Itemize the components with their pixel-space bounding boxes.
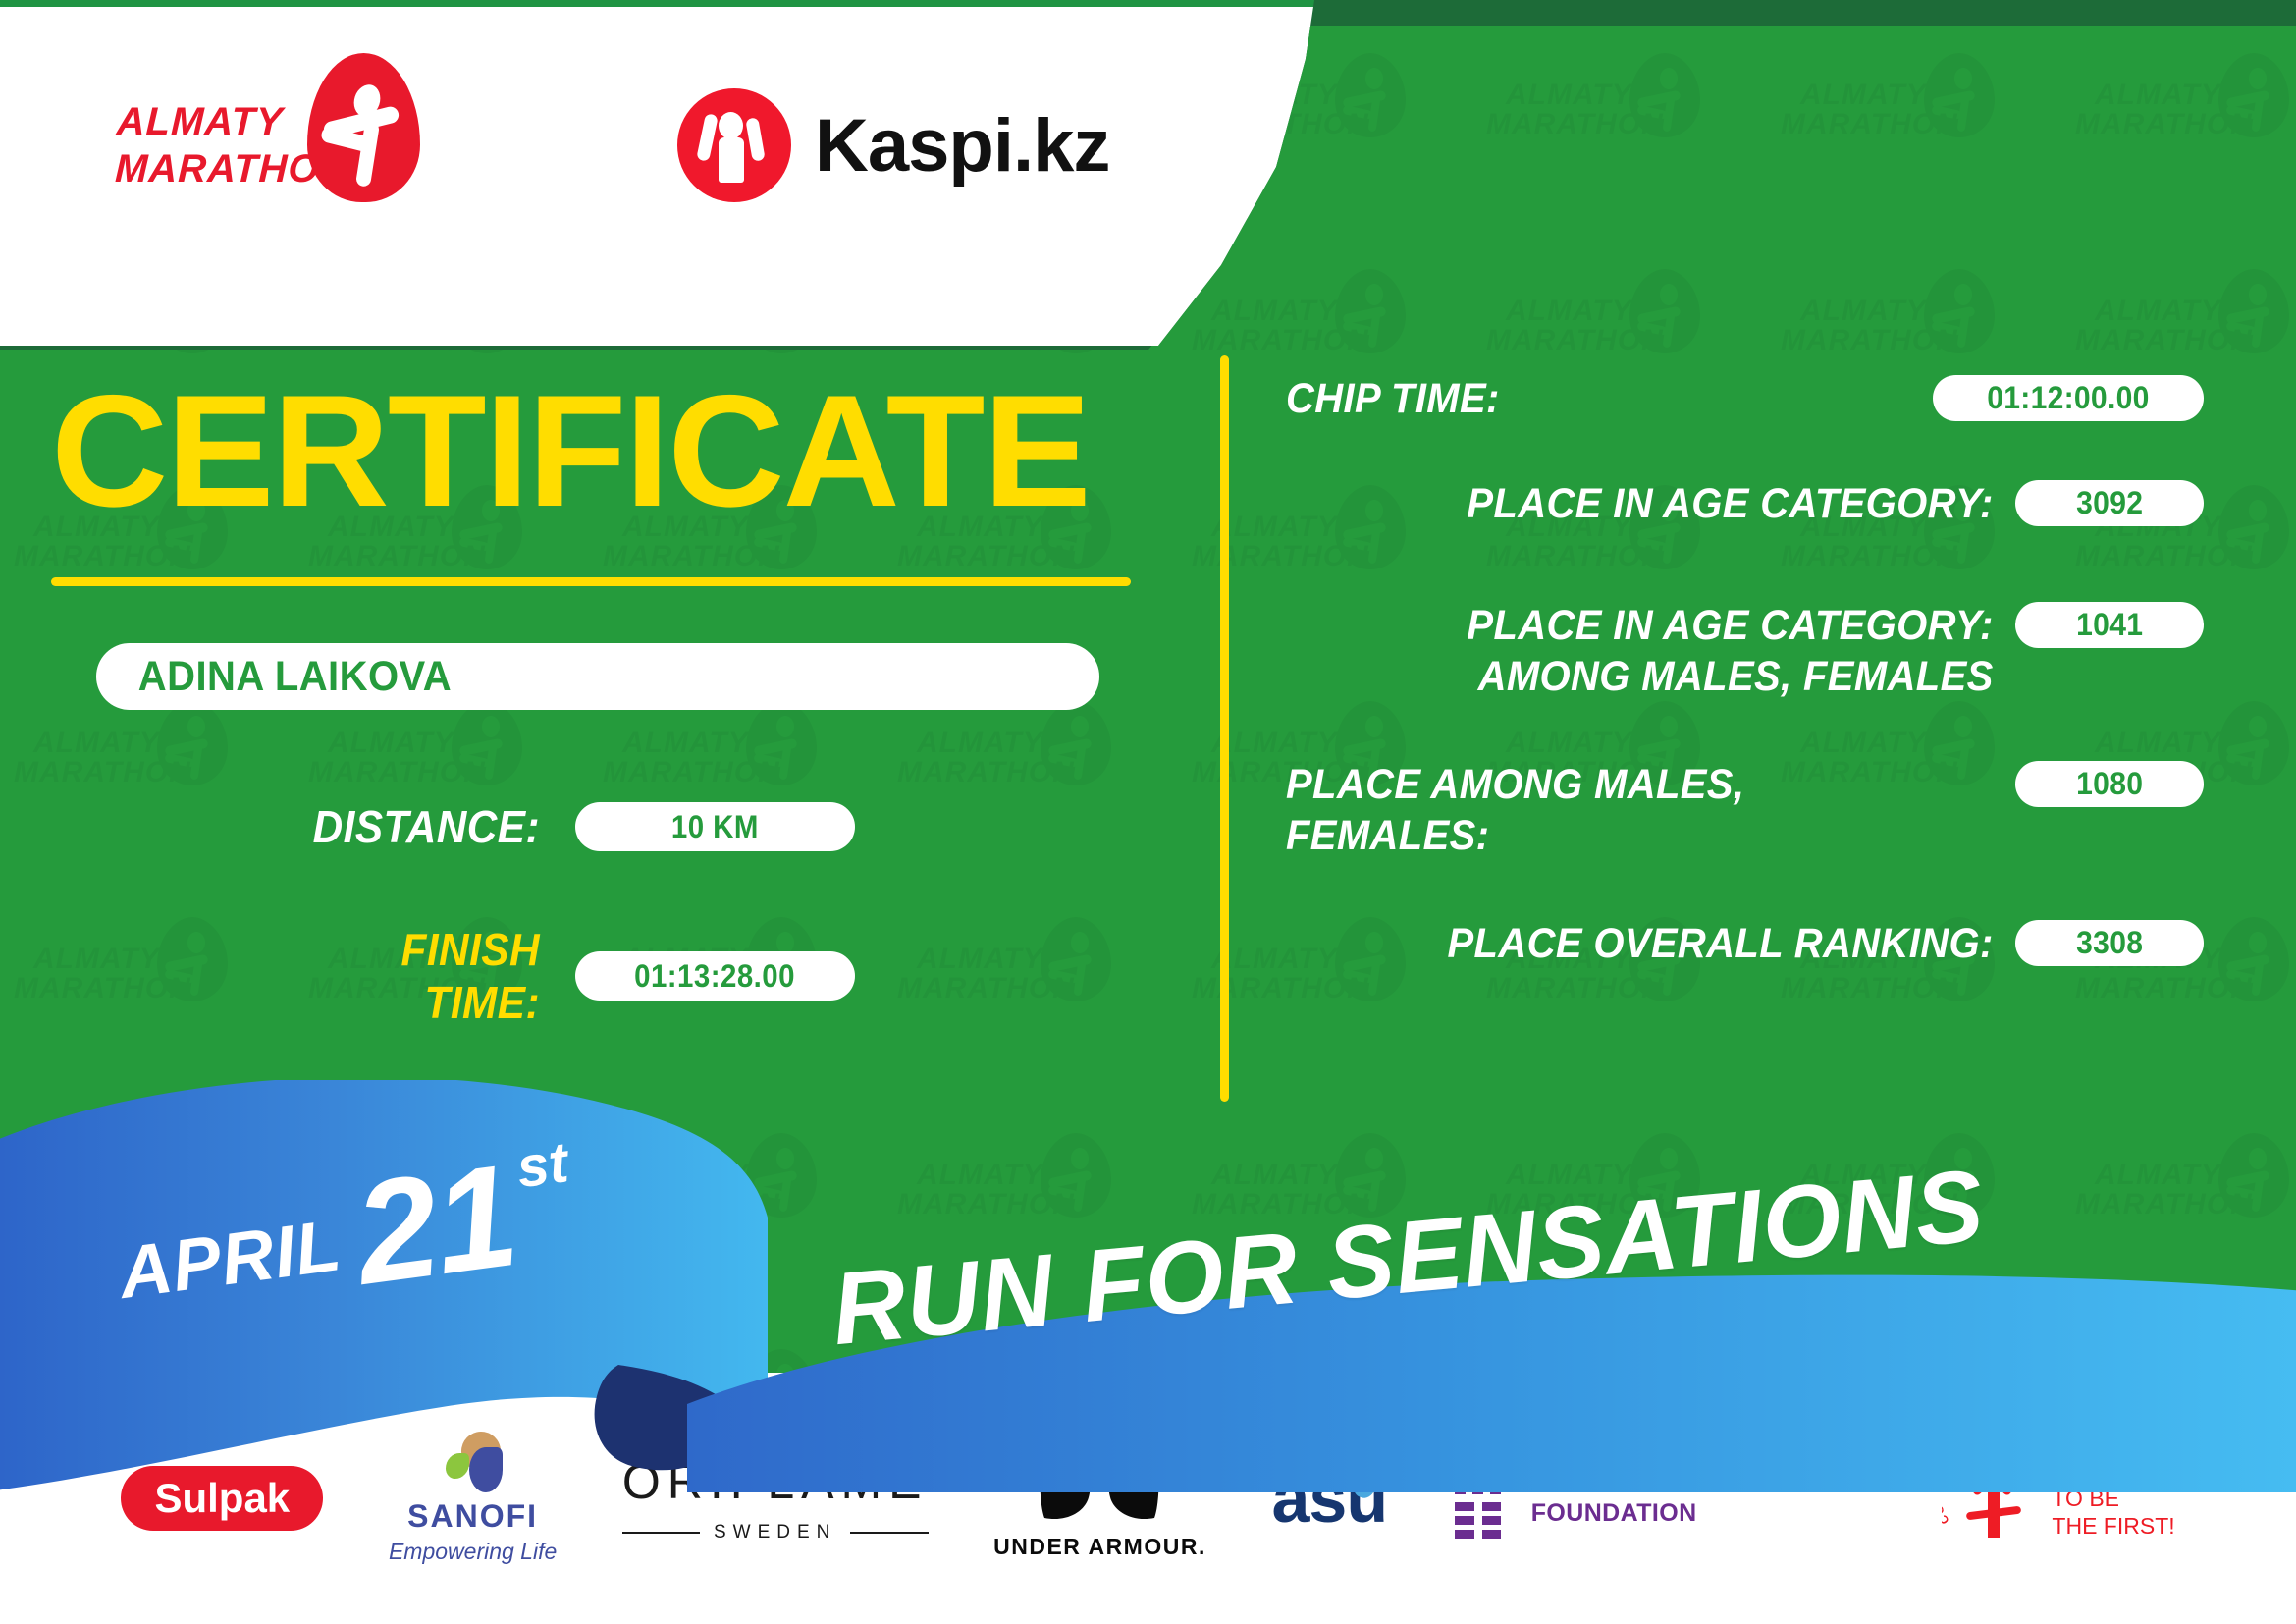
- stat-row-place-among-gender: PLACE AMONG MALES, FEMALES: 1080: [1286, 759, 2204, 861]
- place-age-category-gender-label-line1: PLACE IN AGE CATEGORY:: [1337, 600, 1994, 651]
- distance-label: DISTANCE:: [287, 800, 540, 853]
- header-logos: ALMATY MARATHON Kaspi.kz: [0, 0, 1314, 346]
- runner-name-value: ADINA LAIKOVA: [96, 653, 452, 701]
- sanofi-logo-text: SANOFI: [407, 1498, 538, 1535]
- oriflame-sub: SWEDEN: [622, 1522, 929, 1543]
- place-among-gender-label: PLACE AMONG MALES, FEMALES:: [1286, 759, 1964, 861]
- chip-time-value-pill: 01:12:00.00: [1933, 375, 2204, 421]
- finish-time-value: 01:13:28.00: [635, 958, 796, 995]
- almaty-marathon-logo: ALMATY MARATHON: [116, 71, 430, 218]
- stat-row-place-age-category: PLACE IN AGE CATEGORY: 3092: [1286, 478, 2204, 529]
- stat-row-place-overall: PLACE OVERALL RANKING: 3308: [1286, 918, 2204, 969]
- page-title: CERTIFICATE: [51, 373, 1090, 530]
- place-overall-value: 3308: [2076, 925, 2143, 961]
- oriflame-rule-left: [622, 1532, 700, 1534]
- place-age-category-gender-value: 1041: [2076, 607, 2143, 643]
- sanofi-tagline: Empowering Life: [389, 1539, 557, 1565]
- stats-panel: CHIP TIME: 01:12:00.00 PLACE IN AGE CATE…: [1286, 373, 2204, 969]
- place-age-category-gender-label-line2: AMONG MALES, FEMALES: [1337, 651, 1994, 702]
- place-among-gender-value: 1080: [2076, 766, 2143, 802]
- vertical-divider: [1220, 355, 1229, 1102]
- stat-row-place-age-category-gender: PLACE IN AGE CATEGORY: AMONG MALES, FEMA…: [1286, 600, 2204, 702]
- finish-time-value-pill: 01:13:28.00: [575, 951, 855, 1001]
- place-among-gender-value-pill: 1080: [2015, 761, 2204, 807]
- finish-time-row: FINISH TIME: 01:13:28.00: [265, 923, 855, 1029]
- yessenov-line2: FOUNDATION: [1531, 1498, 1877, 1529]
- title-underline: [51, 577, 1131, 586]
- place-overall-value-pill: 3308: [2015, 920, 2204, 966]
- kaspi-logo: Kaspi.kz: [677, 88, 1109, 202]
- under-armour-logo-text: UNDER ARMOUR.: [993, 1534, 1206, 1560]
- place-among-gender-label-line2: FEMALES:: [1286, 810, 1946, 861]
- chip-time-value: 01:12:00.00: [1987, 380, 2149, 416]
- place-age-category-value: 3092: [2076, 485, 2143, 521]
- place-age-category-value-pill: 3092: [2015, 480, 2204, 526]
- certificate-canvas: ALMATY MARATHON Kaspi.kz CERTIFICATE ADI…: [0, 0, 2296, 1624]
- place-overall-label: PLACE OVERALL RANKING:: [1337, 918, 2015, 969]
- oriflame-sub-text: SWEDEN: [714, 1522, 836, 1543]
- runner-name-field: ADINA LAIKOVA: [96, 643, 1099, 710]
- distance-value: 10 KM: [671, 809, 759, 845]
- chip-time-label: CHIP TIME:: [1286, 373, 1888, 424]
- distance-row: DISTANCE: 10 KM: [265, 800, 855, 853]
- runner-drop-icon: [307, 53, 420, 202]
- stat-row-chip-time: CHIP TIME: 01:12:00.00: [1286, 373, 2204, 424]
- place-age-category-label: PLACE IN AGE CATEGORY:: [1337, 478, 2015, 529]
- kaspi-person-icon: [677, 88, 791, 202]
- oriflame-rule-right: [850, 1532, 928, 1534]
- kaspi-logo-text: Kaspi.kz: [815, 103, 1109, 189]
- distance-value-pill: 10 KM: [575, 802, 855, 851]
- finish-time-label: FINISH TIME:: [287, 923, 540, 1029]
- event-day: 21: [348, 1152, 521, 1299]
- place-age-category-gender-label: PLACE IN AGE CATEGORY: AMONG MALES, FEMA…: [1337, 600, 2015, 702]
- courage-fund-line3: THE FIRST!: [2052, 1512, 2174, 1540]
- place-age-category-gender-value-pill: 1041: [2015, 602, 2204, 648]
- place-among-gender-label-line1: PLACE AMONG MALES,: [1286, 759, 1946, 810]
